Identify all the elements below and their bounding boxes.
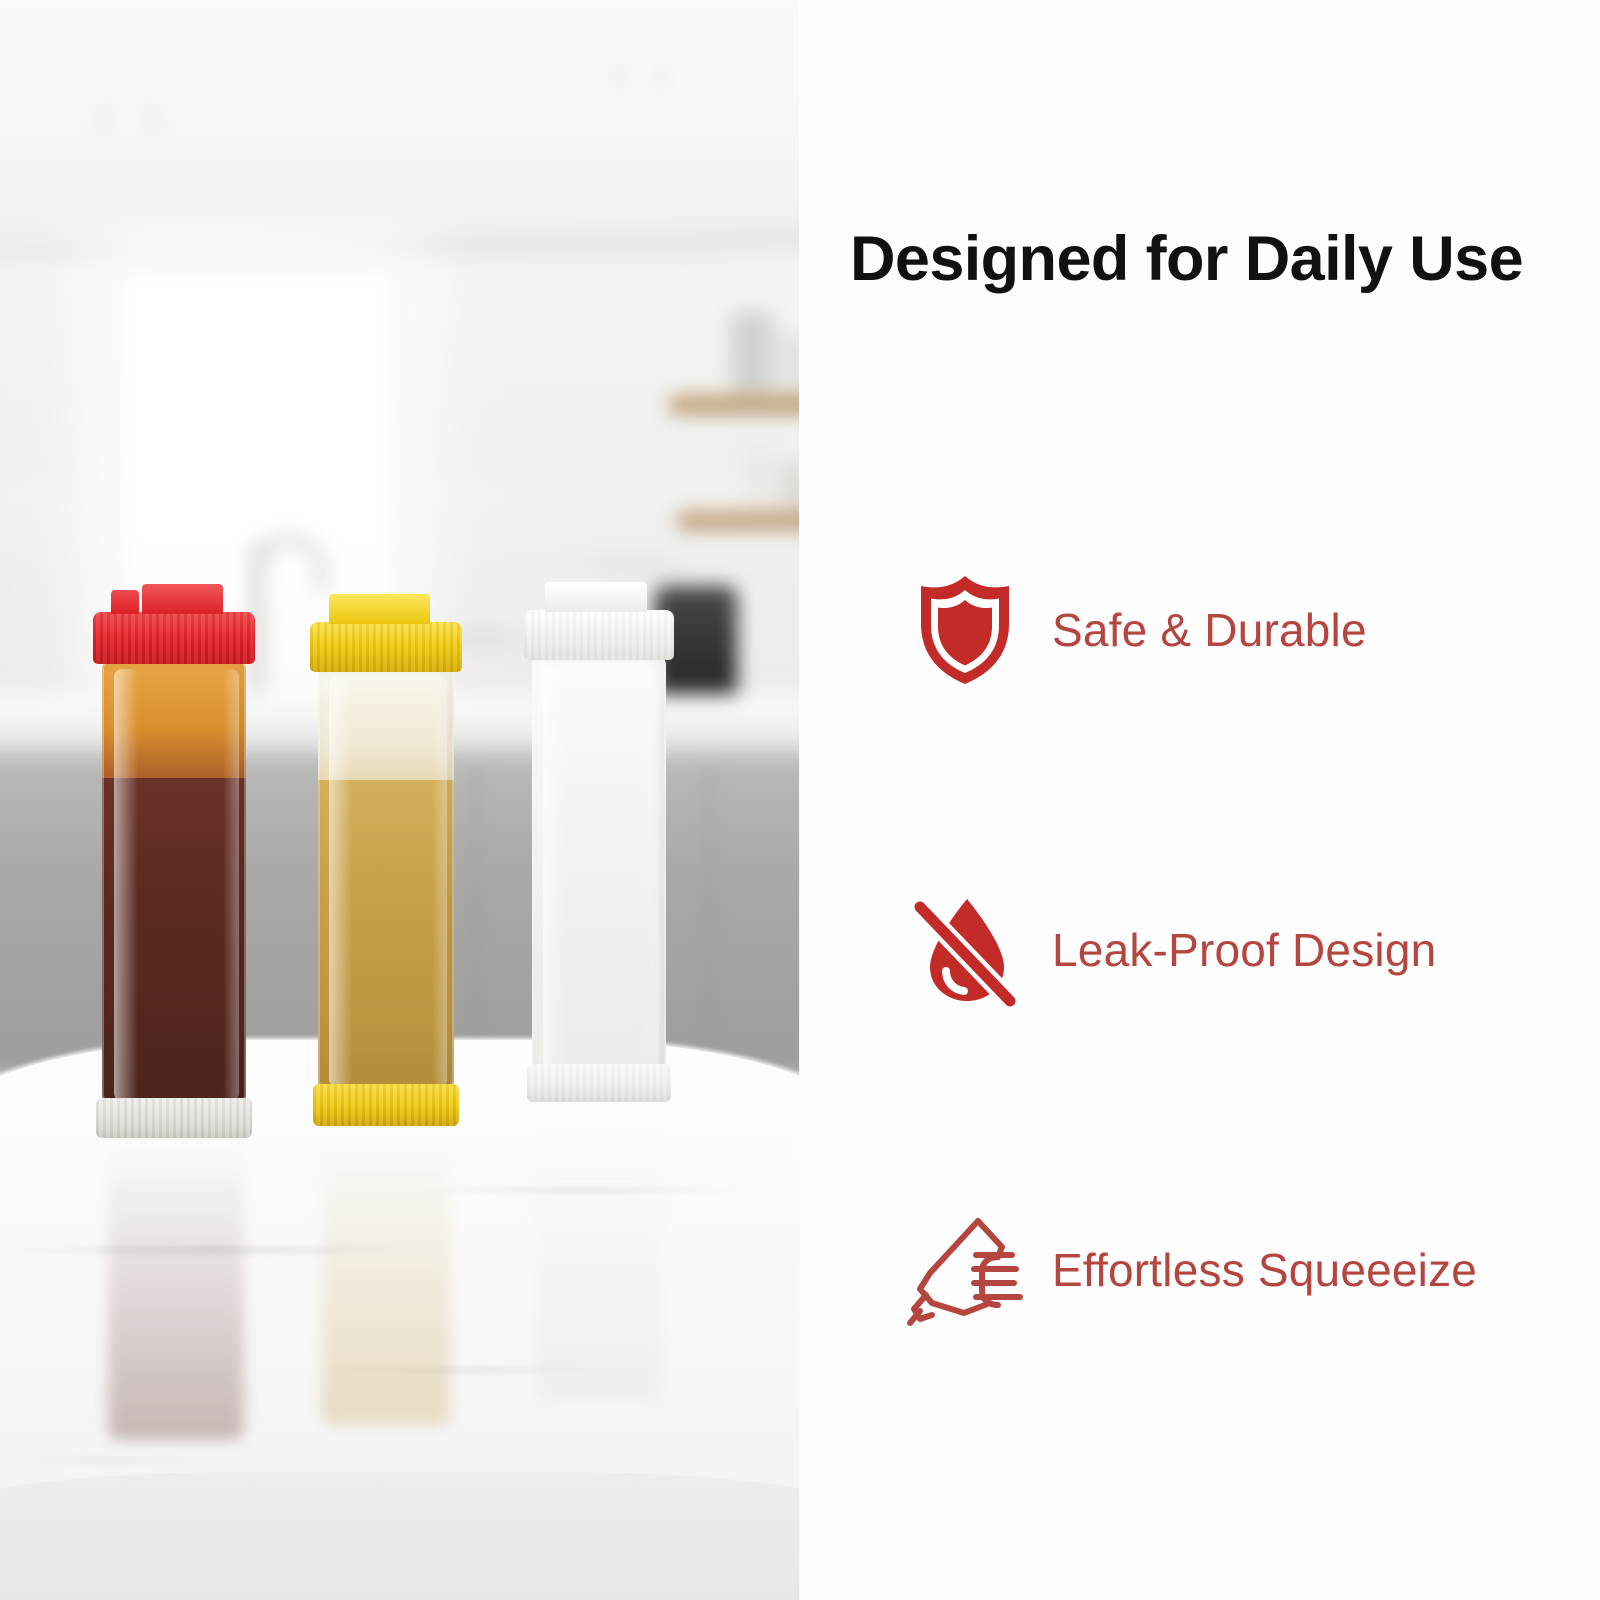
bottle-reflection [536, 1100, 662, 1400]
squeeze-hand-icon [890, 1211, 1040, 1329]
cap-valve [142, 584, 223, 614]
base-ridges [313, 1084, 460, 1126]
bbq-sauce-bottle [102, 660, 246, 1110]
marble-island-front [0, 1472, 800, 1600]
base-ring [313, 1084, 460, 1126]
cabinet-seam [707, 762, 710, 1080]
cap-ridges [524, 610, 674, 660]
base-ridges [527, 1064, 672, 1102]
shield-icon [890, 572, 1040, 688]
page-title: Designed for Daily Use [850, 228, 1550, 291]
bottle-edge [102, 660, 246, 1110]
feature-list: Safe & Durable Leak-Proof Design [800, 470, 1600, 1430]
cap-valve-small [111, 590, 140, 614]
product-photo-panel [0, 0, 800, 1600]
feature-row-leak-proof: Leak-Proof Design [800, 790, 1600, 1110]
empty-bottle [532, 656, 666, 1076]
bottle-reflection [322, 1105, 450, 1425]
feature-panel: Designed for Daily Use Safe & Durable [800, 0, 1600, 1600]
feature-label: Leak-Proof Design [1052, 923, 1436, 977]
mustard-bottle [318, 668, 454, 1096]
cap-valve [545, 582, 647, 612]
red-cap [93, 612, 254, 664]
clear-cap [524, 610, 674, 660]
bottle-reflection [108, 1110, 244, 1440]
feature-label: Safe & Durable [1052, 603, 1367, 657]
base-ring [96, 1098, 252, 1138]
cap-ridges [93, 612, 254, 664]
cabinet-seam [474, 762, 477, 1080]
shelf-object [777, 334, 800, 395]
feature-row-safe-durable: Safe & Durable [800, 470, 1600, 790]
cap-ridges [310, 622, 462, 672]
shelf-object [731, 312, 773, 393]
yellow-cap [310, 622, 462, 672]
recessed-light-icon [604, 58, 678, 92]
recessed-light-icon [87, 100, 168, 138]
base-ridges [96, 1098, 252, 1138]
feature-label: Effortless Squeeeize [1052, 1243, 1477, 1297]
shelf-object [779, 463, 800, 510]
base-ring [527, 1064, 672, 1102]
bottle-edge [532, 656, 666, 1076]
product-feature-graphic: Designed for Daily Use Safe & Durable [0, 0, 1600, 1600]
feature-row-effortless-squeeze: Effortless Squeeeize [800, 1110, 1600, 1430]
shelf-object [743, 446, 775, 510]
no-drop-icon [890, 891, 1040, 1009]
bottle-edge [318, 668, 454, 1096]
wood-shelf [670, 395, 800, 413]
cap-valve [329, 594, 430, 624]
wood-shelf [678, 512, 800, 529]
